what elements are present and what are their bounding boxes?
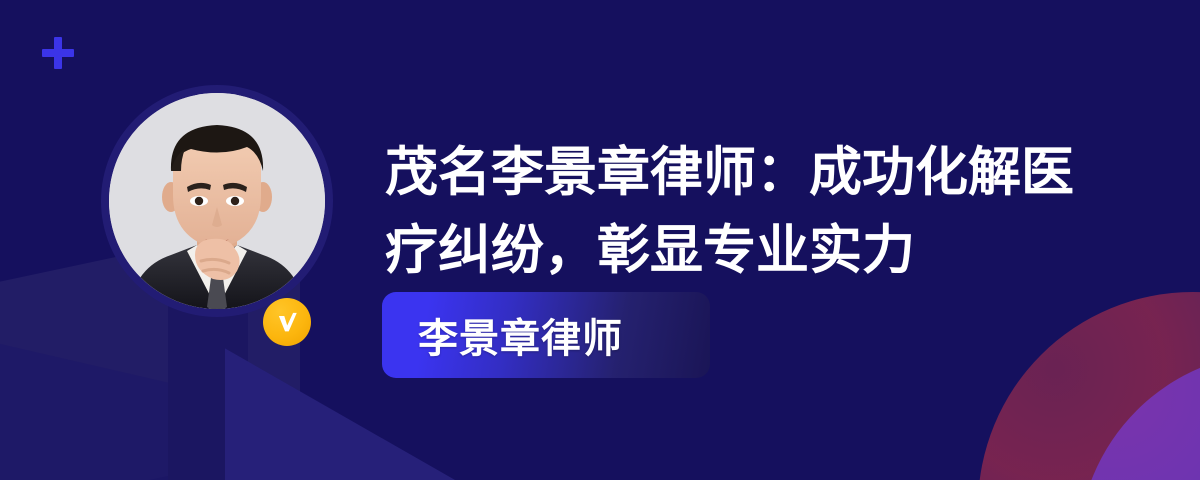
avatar-photo (109, 93, 325, 309)
avatar[interactable] (101, 85, 333, 317)
banner-card: 茂名李景章律师：成功化解医疗纠纷，彰显专业实力 李景章律师 (0, 0, 1200, 480)
decor-polygon-d (0, 330, 200, 480)
lawyer-name-label: 李景章律师 (382, 306, 623, 364)
lawyer-name-chip[interactable]: 李景章律师 (382, 292, 710, 378)
page-title: 茂名李景章律师：成功化解医疗纠纷，彰显专业实力 (385, 134, 1085, 290)
decor-blob-purple (1078, 352, 1200, 480)
decor-blob-crimson (978, 292, 1200, 480)
plus-icon (42, 37, 74, 69)
verified-check-icon (263, 298, 311, 346)
